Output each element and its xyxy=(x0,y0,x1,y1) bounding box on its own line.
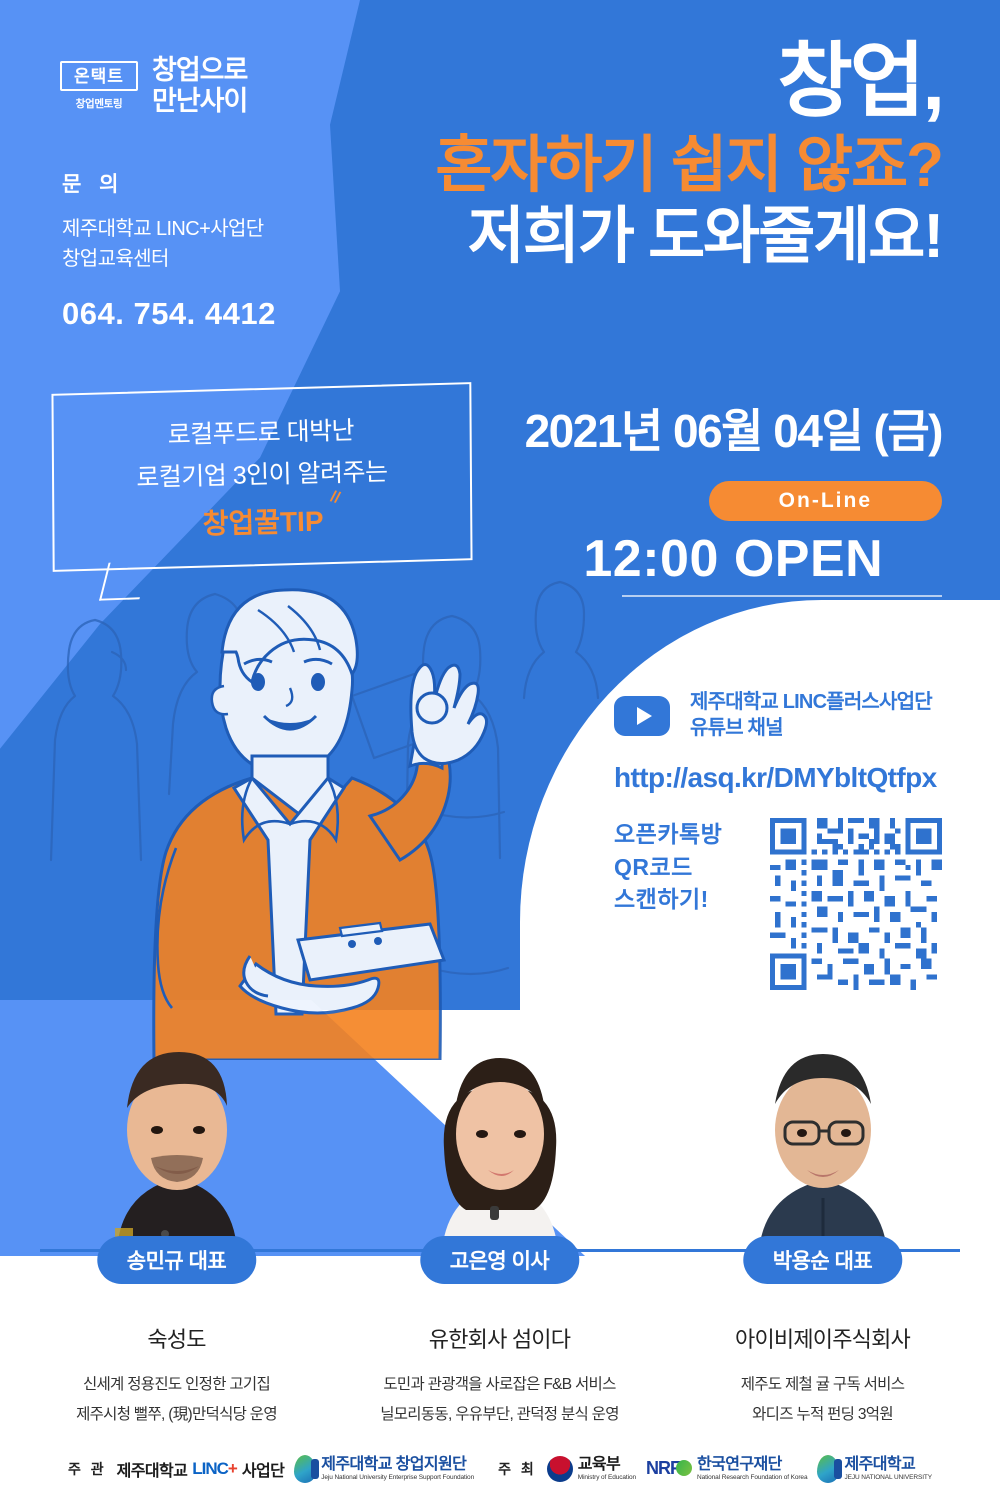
speakers-section: 송민규 대표 숙성도 신세계 정용진도 인정한 고기집 제주시청 뻘쭈, (現)… xyxy=(0,1020,1000,1500)
linc-text: LINC xyxy=(192,1459,228,1478)
speaker-badge-1: 송민규 대표 xyxy=(97,1236,256,1284)
sparkle-icon: // xyxy=(328,488,342,508)
speaker-badge-3: 박용순 대표 xyxy=(743,1236,902,1284)
footer-nrf-ko: 한국연구재단 xyxy=(697,1456,807,1474)
footer-jnu-en: JEJU NATIONAL UNIVERSITY xyxy=(844,1474,932,1481)
footer-nrf-text: 한국연구재단 National Research Foundation of K… xyxy=(697,1456,807,1482)
qr-line3: 스캔하기! xyxy=(614,883,722,916)
qr-line2: QR코드 xyxy=(614,851,722,884)
event-time: 12:00 OPEN xyxy=(525,529,942,589)
footer-nrf: NRF 한국연구재단 National Research Foundation … xyxy=(646,1456,807,1482)
bubble-tip-highlight: 창업꿀 xyxy=(202,507,280,540)
contact-phone: 064. 754. 4412 xyxy=(62,296,276,332)
footer-foundation-en: Jeju National University Enterprise Supp… xyxy=(321,1474,474,1481)
headline-block: 창업, 혼자하기 쉽지 않죠? 저희가 도와줄게요! xyxy=(435,40,942,268)
footer-host-suffix: 사업단 xyxy=(242,1457,284,1481)
linc-plus-logo: LINC+ xyxy=(192,1459,237,1479)
speaker-desc-2-line2: 닐모리동동, 우유부단, 관덕정 분식 운영 xyxy=(333,1400,666,1430)
footer-nrf-en: National Research Foundation of Korea xyxy=(697,1474,807,1481)
contact-label: 문 의 xyxy=(62,168,276,198)
footer-host-group: 주 관 제주대학교 LINC+ 사업단 제주대학교 창업지원단 Jeju Nat… xyxy=(68,1455,474,1483)
brand-logo: 온택트 창업멘토링 창업으로 만난사이 xyxy=(60,55,247,116)
speaker-desc-3-line2: 와디즈 누적 펀딩 3억원 xyxy=(656,1400,989,1430)
speaker-company-2: 유한회사 섬이다 xyxy=(333,1322,666,1354)
speaker-badge-2: 고은영 이사 xyxy=(420,1236,579,1284)
footer-moe-ko: 교육부 xyxy=(578,1456,636,1474)
footer-organizer-label: 주 최 xyxy=(498,1459,537,1479)
footer-organizer-group: 주 최 교육부 Ministry of Education NRF 한국연구재단… xyxy=(498,1455,932,1483)
speaker-photo-3 xyxy=(703,1038,943,1250)
headline-line1: 창업, xyxy=(435,40,942,124)
footer-foundation-ko: 제주대학교 창업지원단 xyxy=(321,1456,474,1474)
youtube-channel-text: 제주대학교 LINC플러스사업단 유튜브 채널 xyxy=(690,690,932,741)
event-url[interactable]: http://asq.kr/DMYbltQtfpx xyxy=(614,762,937,794)
linc-plus-sign: + xyxy=(228,1459,237,1478)
bubble-tip-suffix: TIP xyxy=(280,506,324,538)
nrf-logo-icon: NRF xyxy=(646,1458,692,1479)
ontact-logo-label: 온택트 xyxy=(60,61,138,91)
speaker-desc-1-line2: 제주시청 뻘쭈, (現)만덕식당 운영 xyxy=(10,1400,343,1430)
bubble-tip: 창업꿀TIP // xyxy=(202,500,324,543)
footer-sponsors: 주 관 제주대학교 LINC+ 사업단 제주대학교 창업지원단 Jeju Nat… xyxy=(0,1438,1000,1500)
youtube-channel-row[interactable]: 제주대학교 LINC플러스사업단 유튜브 채널 xyxy=(614,690,932,741)
speaker-desc-2-line1: 도민과 관광객을 사로잡은 F&B 서비스 xyxy=(333,1370,666,1400)
footer-moe-text: 교육부 Ministry of Education xyxy=(578,1456,636,1482)
youtube-line2: 유튜브 채널 xyxy=(690,716,932,742)
presenter-illustration xyxy=(0,560,620,1060)
contact-org-line2: 창업교육센터 xyxy=(62,244,276,274)
speaker-desc-3-line1: 제주도 제철 귤 구독 서비스 xyxy=(656,1370,989,1400)
footer-moe-en: Ministry of Education xyxy=(578,1474,636,1481)
speaker-photo-2 xyxy=(380,1038,620,1250)
contact-org-line1: 제주대학교 LINC+사업단 xyxy=(62,214,276,244)
qr-code-icon[interactable] xyxy=(770,818,942,990)
speaker-company-3: 아이비제이주식회사 xyxy=(656,1322,989,1354)
speaker-card-2: 고은영 이사 유한회사 섬이다 도민과 관광객을 사로잡은 F&B 서비스 닐모… xyxy=(333,1020,666,1487)
brand-logo-line1: 창업으로 xyxy=(152,55,247,86)
speaker-photo-1 xyxy=(57,1038,297,1250)
qr-instructions: 오픈카톡방 QR코드 스캔하기! xyxy=(614,818,722,916)
footer-moe: 교육부 Ministry of Education xyxy=(547,1456,636,1482)
footer-jnu-text: 제주대학교 JEJU NATIONAL UNIVERSITY xyxy=(844,1456,932,1482)
footer-jnu-ko: 제주대학교 xyxy=(844,1456,932,1474)
nrf-swoosh-icon xyxy=(676,1460,692,1476)
speaker-card-3: 박용순 대표 아이비제이주식회사 제주도 제철 귤 구독 서비스 와디즈 누적 … xyxy=(656,1020,989,1487)
event-date: 2021년 06월 04일 (금) xyxy=(525,395,942,461)
nrf-letters: NRF xyxy=(646,1458,680,1478)
footer-host-linc: 제주대학교 LINC+ 사업단 xyxy=(117,1457,285,1481)
poster-root: 온택트 창업멘토링 창업으로 만난사이 문 의 제주대학교 LINC+사업단 창… xyxy=(0,0,1000,1500)
ontact-logo-sublabel: 창업멘토링 xyxy=(60,96,138,111)
speaker-company-1: 숙성도 xyxy=(10,1322,343,1354)
speaker-card-1: 송민규 대표 숙성도 신세계 정용진도 인정한 고기집 제주시청 뻘쭈, (現)… xyxy=(10,1020,343,1487)
schedule-divider xyxy=(622,595,942,597)
bubble-line1: 로컬푸드로 대박난 xyxy=(167,411,354,452)
footer-host-foundation: 제주대학교 창업지원단 Jeju National University Ent… xyxy=(294,1455,474,1483)
speech-bubble-text: 로컬푸드로 대박난 로컬기업 3인이 알려주는 창업꿀TIP // xyxy=(50,383,474,571)
footer-foundation-text: 제주대학교 창업지원단 Jeju National University Ent… xyxy=(321,1456,474,1482)
jeju-university-icon xyxy=(817,1455,839,1483)
youtube-line1: 제주대학교 LINC플러스사업단 xyxy=(690,690,932,716)
speech-bubble: 로컬푸드로 대박난 로컬기업 3인이 알려주는 창업꿀TIP // xyxy=(52,388,472,566)
footer-host-univ: 제주대학교 xyxy=(117,1457,188,1481)
youtube-play-icon xyxy=(614,696,670,736)
brand-logo-text: 창업으로 만난사이 xyxy=(152,55,247,116)
ontact-logo-mark: 온택트 창업멘토링 xyxy=(60,61,138,111)
contact-block: 문 의 제주대학교 LINC+사업단 창업교육센터 064. 754. 4412 xyxy=(62,168,276,332)
taegeuk-icon xyxy=(547,1456,573,1482)
footer-host-label: 주 관 xyxy=(68,1459,107,1479)
online-badge: On-Line xyxy=(709,481,942,521)
jeju-foundation-icon xyxy=(294,1455,316,1483)
speaker-desc-1-line1: 신세계 정용진도 인정한 고기집 xyxy=(10,1370,343,1400)
footer-jnu: 제주대학교 JEJU NATIONAL UNIVERSITY xyxy=(817,1455,932,1483)
play-triangle-icon xyxy=(637,707,652,725)
schedule-block: 2021년 06월 04일 (금) On-Line 12:00 OPEN xyxy=(525,395,942,597)
headline-line2: 혼자하기 쉽지 않죠? xyxy=(435,134,942,197)
bubble-line2: 로컬기업 3인이 알려주는 xyxy=(136,452,388,494)
headline-line3: 저희가 도와줄게요! xyxy=(435,205,942,268)
qr-line1: 오픈카톡방 xyxy=(614,818,722,851)
brand-logo-line2: 만난사이 xyxy=(152,86,247,117)
